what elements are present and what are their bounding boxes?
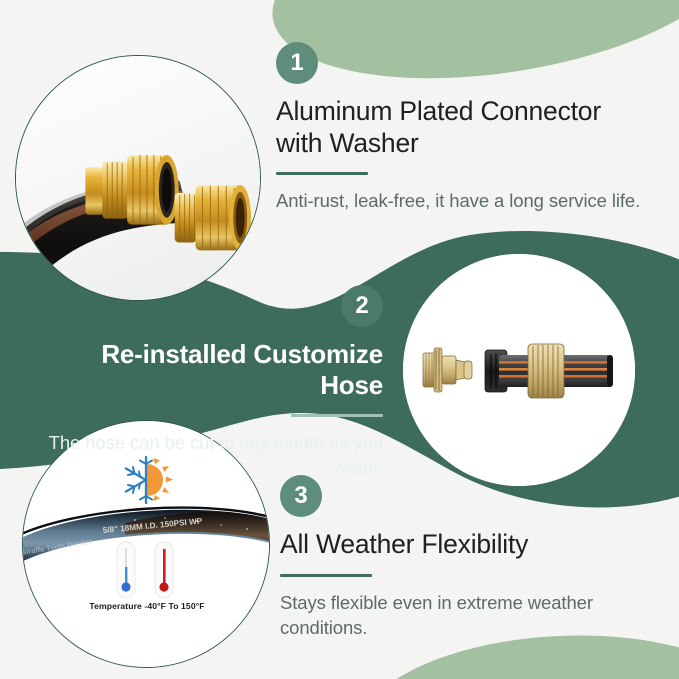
feature-2-image bbox=[403, 254, 635, 486]
feature-1-badge: 1 bbox=[276, 42, 318, 84]
brass-connector-photo bbox=[16, 56, 260, 300]
feature-3-divider bbox=[280, 574, 372, 577]
feature-1-image bbox=[15, 55, 261, 301]
feature-2-heading: Re-installed Customize Hose bbox=[38, 339, 383, 401]
feature-1-subtext: Anti-rust, leak-free, it have a long ser… bbox=[276, 188, 646, 213]
infographic-canvas: 5/8" 18MM I.D. 150PSI WP Giraffe Tools G… bbox=[0, 0, 679, 679]
temperature-range-label: Temperature -40°F To 150°F bbox=[23, 601, 270, 611]
feature-1-heading: Aluminum Plated Connector with Washer bbox=[276, 96, 646, 159]
feature-2-divider bbox=[291, 414, 383, 417]
hose-assembly-diagram bbox=[403, 254, 635, 486]
feature-3-heading: All Weather Flexibility bbox=[280, 529, 660, 561]
feature-3-badge: 3 bbox=[280, 475, 322, 517]
feature-2-subtext: The hose can be cut to any length as you… bbox=[38, 430, 383, 481]
feature-3-subtext: Stays flexible even in extreme weather c… bbox=[280, 590, 660, 641]
cold-thermometer-icon bbox=[117, 542, 135, 598]
feature-3-text: 3 All Weather Flexibility Stays flexible… bbox=[280, 475, 660, 640]
thermometer-pair bbox=[95, 541, 199, 599]
feature-1-divider bbox=[276, 172, 368, 175]
feature-1-text: 1 Aluminum Plated Connector with Washer … bbox=[276, 42, 646, 213]
hot-thermometer-icon bbox=[155, 542, 173, 598]
feature-2-text: 2 Re-installed Customize Hose The hose c… bbox=[38, 285, 383, 481]
feature-2-badge: 2 bbox=[341, 285, 383, 327]
